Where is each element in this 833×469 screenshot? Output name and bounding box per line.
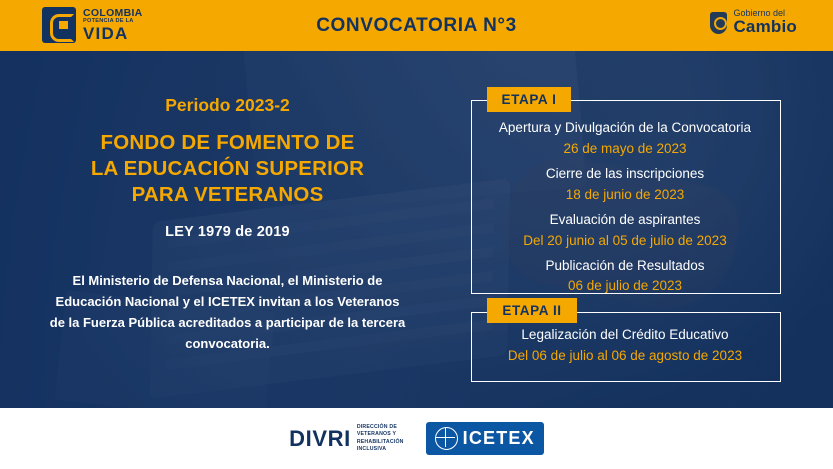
stage-1-item-2-date: Del 20 junio al 05 de julio de 2023 bbox=[471, 231, 779, 252]
stage-2-tag: ETAPA II bbox=[487, 298, 577, 323]
icetex-name: ICETEX bbox=[463, 428, 535, 449]
program-title-line1: FONDO DE FOMENTO DE bbox=[0, 130, 455, 156]
law-label: LEY 1979 de 2019 bbox=[0, 224, 455, 240]
stage-1-item-1-title: Cierre de las inscripciones bbox=[471, 164, 779, 185]
icetex-logo: ICETEX bbox=[426, 422, 544, 455]
program-title: FONDO DE FOMENTO DE LA EDUCACIÓN SUPERIO… bbox=[0, 130, 455, 209]
divri-sub-line4: INCLUSIVA bbox=[357, 446, 404, 453]
left-text-block: Periodo 2023-2 FONDO DE FOMENTO DE LA ED… bbox=[0, 95, 455, 354]
stage-1-item-0-title: Apertura y Divulgación de la Convocatori… bbox=[471, 118, 779, 139]
list-item: Cierre de las inscripciones 18 de junio … bbox=[471, 164, 779, 206]
government-logo-line2: Cambio bbox=[733, 18, 797, 36]
stage-2-item-0-date: Del 06 de julio al 06 de agosto de 2023 bbox=[471, 346, 779, 367]
divri-sub-line1: DIRECCIÓN DE bbox=[357, 424, 404, 431]
colombia-logo-line3: VIDA bbox=[83, 25, 143, 42]
divri-subtitle: DIRECCIÓN DE VETERANOS Y REHABILITACIÓN … bbox=[357, 424, 404, 452]
stage-1-item-3-title: Publicación de Resultados bbox=[471, 256, 779, 277]
colombia-logo-icon bbox=[42, 7, 76, 43]
stage-1-list: Apertura y Divulgación de la Convocatori… bbox=[471, 118, 779, 301]
stage-1-item-0-date: 26 de mayo de 2023 bbox=[471, 139, 779, 160]
divri-sub-line3: REHABILITACIÓN bbox=[357, 439, 404, 446]
globe-icon bbox=[435, 427, 458, 450]
government-shield-icon bbox=[710, 12, 727, 34]
stage-1-item-1-date: 18 de junio de 2023 bbox=[471, 185, 779, 206]
poster: CONVOCATORIA N°3 COLOMBIA POTENCIA DE LA… bbox=[0, 0, 833, 469]
footer-logos: DIVRI DIRECCIÓN DE VETERANOS Y REHABILIT… bbox=[0, 408, 833, 469]
stage-2-list: Legalización del Crédito Educativo Del 0… bbox=[471, 325, 779, 371]
divri-sub-line2: VETERANOS Y bbox=[357, 431, 404, 438]
stage-2-item-0-title: Legalización del Crédito Educativo bbox=[471, 325, 779, 346]
stage-1-tag: ETAPA I bbox=[487, 87, 571, 112]
program-title-line3: PARA VETERANOS bbox=[0, 182, 455, 208]
list-item: Apertura y Divulgación de la Convocatori… bbox=[471, 118, 779, 160]
stage-1-item-3-date: 06 de julio de 2023 bbox=[471, 276, 779, 297]
periodo-label: Periodo 2023-2 bbox=[0, 95, 455, 116]
colombia-logo: COLOMBIA POTENCIA DE LA VIDA bbox=[42, 7, 143, 43]
list-item: Publicación de Resultados 06 de julio de… bbox=[471, 256, 779, 298]
list-item: Legalización del Crédito Educativo Del 0… bbox=[471, 325, 779, 367]
colombia-logo-text: COLOMBIA POTENCIA DE LA VIDA bbox=[83, 8, 143, 42]
top-banner: CONVOCATORIA N°3 COLOMBIA POTENCIA DE LA… bbox=[0, 0, 833, 51]
government-logo-text: Gobierno del Cambio bbox=[733, 9, 797, 36]
list-item: Evaluación de aspirantes Del 20 junio al… bbox=[471, 210, 779, 252]
program-title-line2: LA EDUCACIÓN SUPERIOR bbox=[0, 156, 455, 182]
stage-1-item-2-title: Evaluación de aspirantes bbox=[471, 210, 779, 231]
government-logo: Gobierno del Cambio bbox=[710, 9, 797, 36]
divri-logo: DIVRI DIRECCIÓN DE VETERANOS Y REHABILIT… bbox=[289, 424, 403, 452]
footer: DIVRI DIRECCIÓN DE VETERANOS Y REHABILIT… bbox=[0, 408, 833, 469]
description-paragraph: El Ministerio de Defensa Nacional, el Mi… bbox=[0, 270, 455, 354]
divri-name: DIVRI bbox=[289, 426, 351, 452]
